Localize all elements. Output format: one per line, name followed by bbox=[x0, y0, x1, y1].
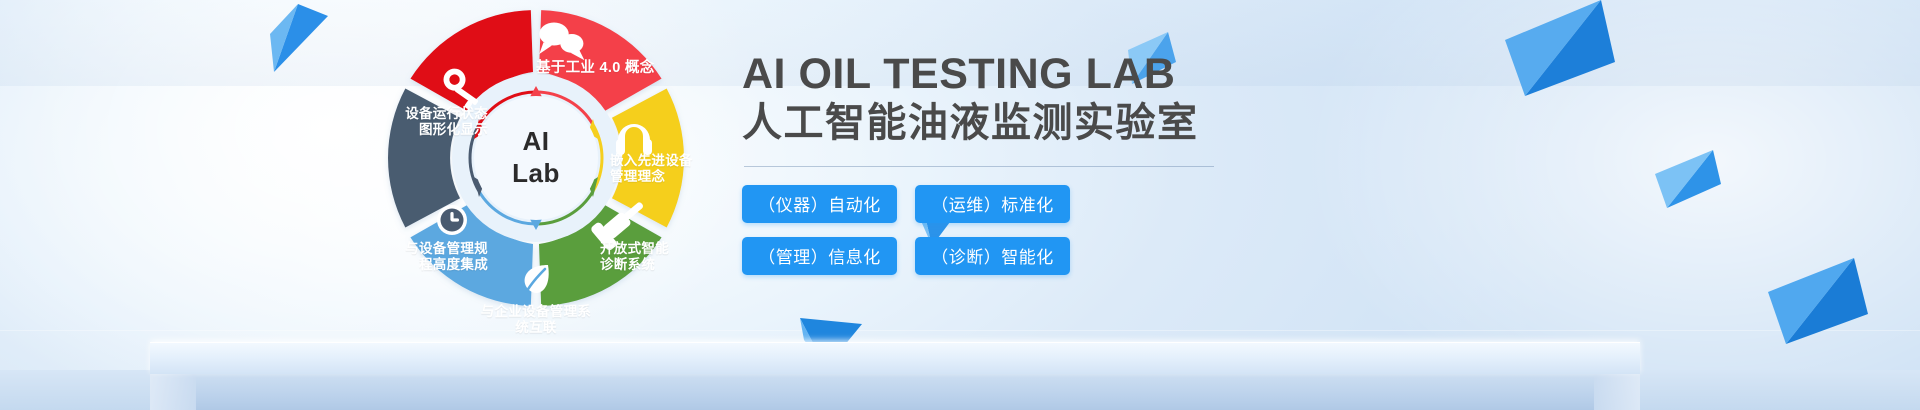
podium-right-face bbox=[1590, 370, 1640, 410]
banner-root: 基于工业 4.0 概念 嵌入先进设备 管理理念 开放式智能 诊断系统 与企业设备… bbox=[0, 0, 1920, 410]
title-chinese: 人工智能油液监测实验室 bbox=[742, 101, 1502, 146]
podium-front-face bbox=[196, 370, 1594, 410]
title-english: AI OIL TESTING LAB bbox=[742, 52, 1502, 97]
headline-block: AI OIL TESTING LAB 人工智能油液监测实验室 （仪器）自动化 （… bbox=[742, 52, 1502, 275]
wheel-segment-label-enterprise-interconnect: 与企业设备管理系 统互联 bbox=[434, 304, 638, 336]
tag-instrument-automation[interactable]: （仪器）自动化 bbox=[742, 185, 897, 223]
podium-top-surface bbox=[150, 342, 1640, 374]
tag-management-informatization[interactable]: （管理）信息化 bbox=[742, 237, 897, 275]
podium-left-face bbox=[150, 370, 200, 410]
blue-triangle-icon bbox=[1505, 0, 1615, 96]
tag-diagnosis-intelligence[interactable]: （诊断）智能化 bbox=[915, 237, 1070, 275]
clock-icon bbox=[437, 205, 467, 235]
wheel-segment-label-management-integration: 与设备管理规 程高度集成 bbox=[348, 241, 488, 273]
tag-ops-standardization[interactable]: （运维）标准化 bbox=[915, 185, 1070, 223]
wheel-segment-label-open-diagnosis: 开放式智能 诊断系统 bbox=[600, 241, 730, 273]
tag-list: （仪器）自动化 （运维）标准化 （管理）信息化 （诊断）智能化 bbox=[742, 185, 1082, 275]
wheel-segment-label-advanced-equipment: 嵌入先进设备 管理理念 bbox=[610, 153, 740, 185]
wheel-core-disc bbox=[474, 96, 598, 220]
wheel-segment-label-industry-4-0: 基于工业 4.0 概念 bbox=[536, 60, 736, 77]
capability-wheel: 基于工业 4.0 概念 嵌入先进设备 管理理念 开放式智能 诊断系统 与企业设备… bbox=[386, 8, 686, 308]
wall-edge-line bbox=[0, 330, 1920, 331]
wheel-segment-label-status-visualization: 设备运行状态 图形化显示 bbox=[348, 106, 488, 138]
blue-triangle-icon bbox=[268, 4, 328, 72]
blue-triangle-icon bbox=[1655, 150, 1721, 208]
blue-triangle-icon bbox=[1768, 258, 1868, 344]
title-divider bbox=[744, 166, 1214, 167]
